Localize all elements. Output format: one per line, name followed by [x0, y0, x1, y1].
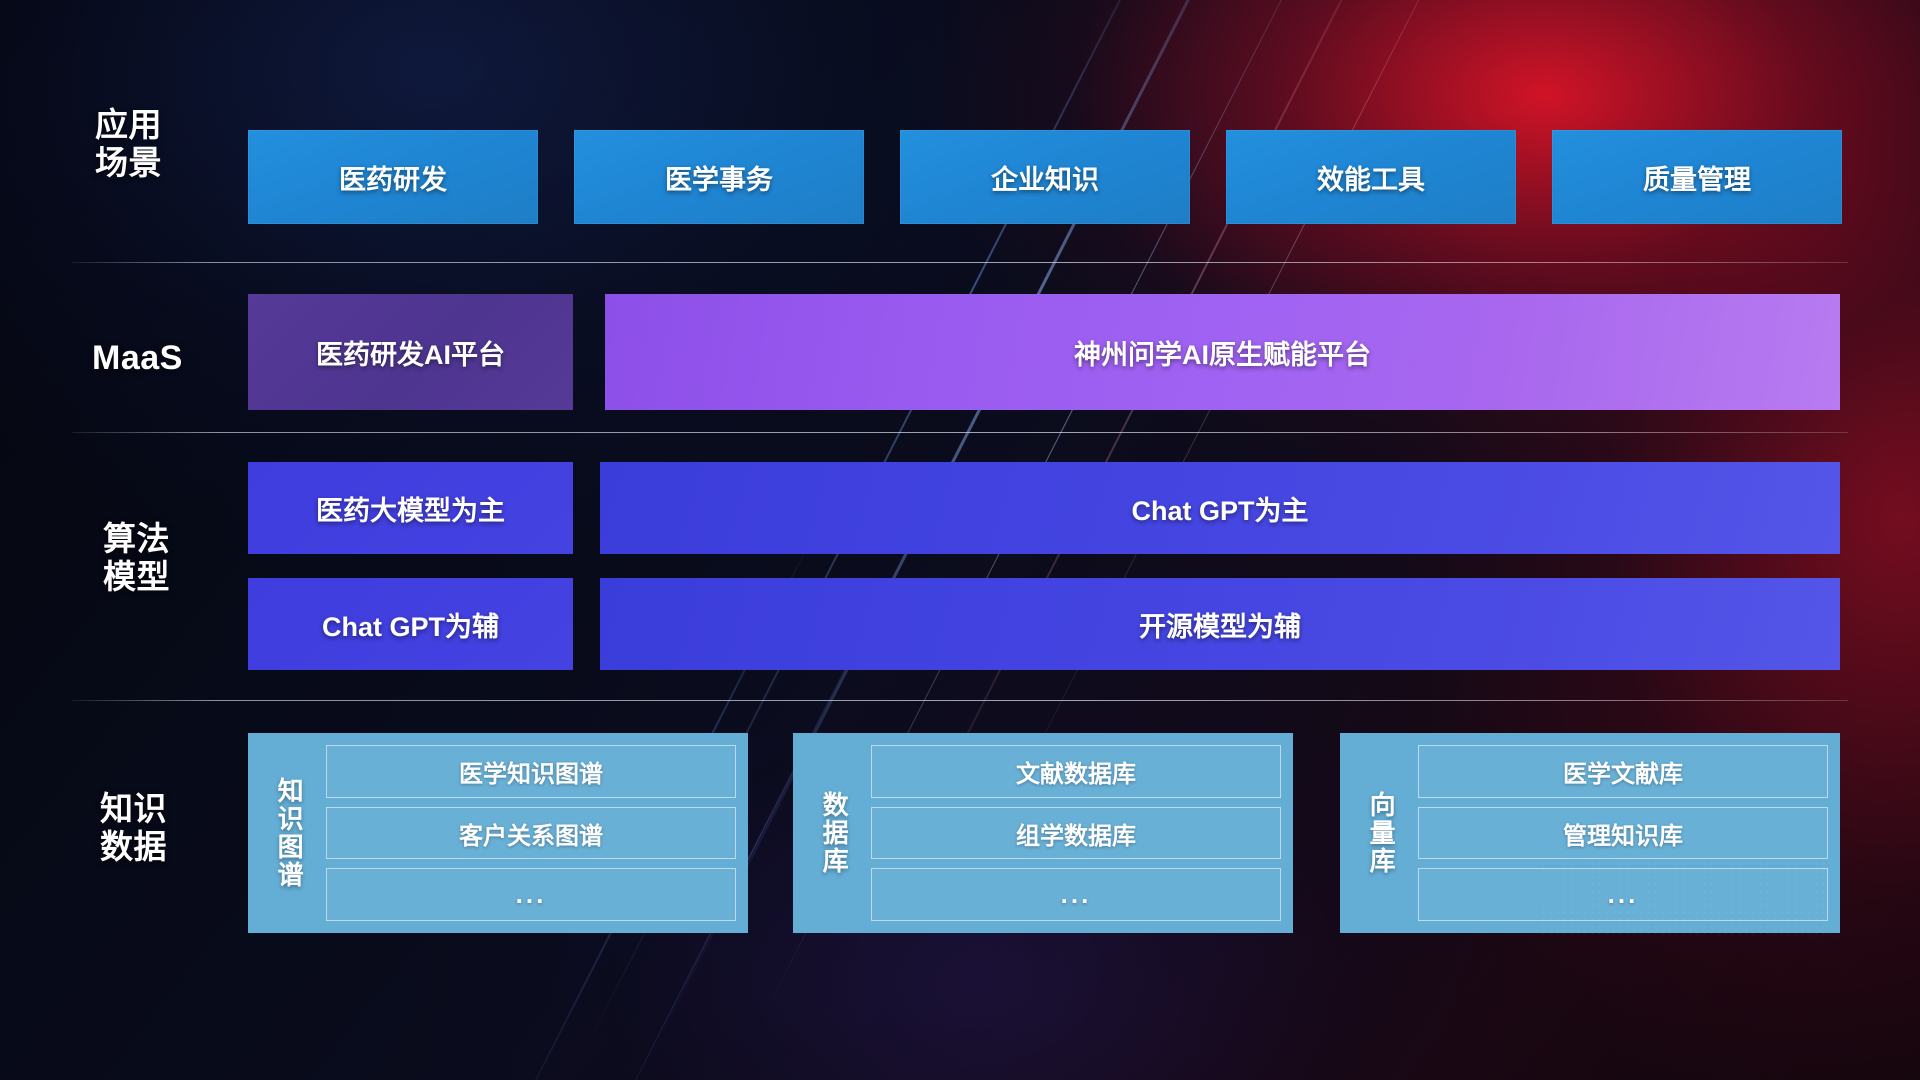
app-card-2-label: 医学事务 — [665, 158, 773, 197]
algo-card-primary-right[interactable]: Chat GPT为主 — [600, 462, 1840, 554]
algo-card-primary-left-label: 医药大模型为主 — [316, 489, 505, 528]
divider-2 — [72, 432, 1848, 433]
row-label-line-2: 场景 — [95, 144, 225, 182]
knowledge-group-1-title: 知识图谱 — [258, 745, 320, 921]
row-label-line-1: 应用 — [95, 106, 225, 144]
maas-card-right-label: 神州问学AI原生赋能平台 — [1074, 333, 1371, 372]
knowledge-group-2-item-1[interactable]: 文献数据库 — [871, 745, 1281, 798]
app-card-2[interactable]: 医学事务 — [574, 130, 864, 224]
row-label-knowledge-line-1: 知识 — [100, 790, 240, 828]
row-label-algorithm-model: 算法 模型 — [103, 520, 233, 597]
app-card-1[interactable]: 医药研发 — [248, 130, 538, 224]
knowledge-group-3-item-1[interactable]: 医学文献库 — [1418, 745, 1828, 798]
app-card-3[interactable]: 企业知识 — [900, 130, 1190, 224]
app-card-4-label: 效能工具 — [1317, 158, 1425, 197]
app-card-1-label: 医药研发 — [339, 158, 447, 197]
knowledge-group-3-title: 向量库 — [1350, 745, 1412, 921]
app-card-4[interactable]: 效能工具 — [1226, 130, 1516, 224]
algo-card-secondary-right-label: 开源模型为辅 — [1139, 605, 1301, 644]
app-card-5-label: 质量管理 — [1643, 158, 1751, 197]
knowledge-group-knowledge-graph[interactable]: 知识图谱 医学知识图谱 客户关系图谱 ... — [248, 733, 748, 933]
slide-canvas: 应用 场景 医药研发 医学事务 企业知识 效能工具 质量管理 MaaS 医药研发… — [0, 0, 1920, 1080]
knowledge-group-database[interactable]: 数据库 文献数据库 组学数据库 ... — [793, 733, 1293, 933]
row-label-knowledge-data: 知识 数据 — [100, 790, 240, 867]
knowledge-group-2-item-3[interactable]: ... — [871, 868, 1281, 921]
algo-card-primary-right-label: Chat GPT为主 — [1131, 489, 1308, 528]
row-label-maas: MaaS — [92, 339, 252, 378]
knowledge-group-vector-store[interactable]: 向量库 医学文献库 管理知识库 ... — [1340, 733, 1840, 933]
row-label-knowledge-line-2: 数据 — [100, 828, 240, 866]
knowledge-group-3-item-3[interactable]: ... — [1418, 868, 1828, 921]
algo-card-secondary-left-label: Chat GPT为辅 — [322, 605, 499, 644]
knowledge-group-1-item-3[interactable]: ... — [326, 868, 736, 921]
algo-card-primary-left[interactable]: 医药大模型为主 — [248, 462, 573, 554]
maas-card-left[interactable]: 医药研发AI平台 — [248, 294, 573, 410]
knowledge-group-2-item-2[interactable]: 组学数据库 — [871, 807, 1281, 860]
row-label-algo-line-2: 模型 — [103, 558, 233, 596]
algo-card-secondary-left[interactable]: Chat GPT为辅 — [248, 578, 573, 670]
knowledge-group-1-item-2[interactable]: 客户关系图谱 — [326, 807, 736, 860]
maas-card-left-label: 医药研发AI平台 — [316, 333, 505, 372]
row-label-maas-text: MaaS — [92, 339, 252, 378]
app-card-3-label: 企业知识 — [991, 158, 1099, 197]
divider-1 — [72, 262, 1848, 263]
knowledge-group-2-title: 数据库 — [803, 745, 865, 921]
app-card-5[interactable]: 质量管理 — [1552, 130, 1842, 224]
row-label-algo-line-1: 算法 — [103, 520, 233, 558]
row-label-application-scenarios: 应用 场景 — [95, 106, 225, 183]
maas-card-right[interactable]: 神州问学AI原生赋能平台 — [605, 294, 1840, 410]
algo-card-secondary-right[interactable]: 开源模型为辅 — [600, 578, 1840, 670]
knowledge-group-1-item-1[interactable]: 医学知识图谱 — [326, 745, 736, 798]
divider-3 — [72, 700, 1848, 701]
knowledge-group-3-item-2[interactable]: 管理知识库 — [1418, 807, 1828, 860]
